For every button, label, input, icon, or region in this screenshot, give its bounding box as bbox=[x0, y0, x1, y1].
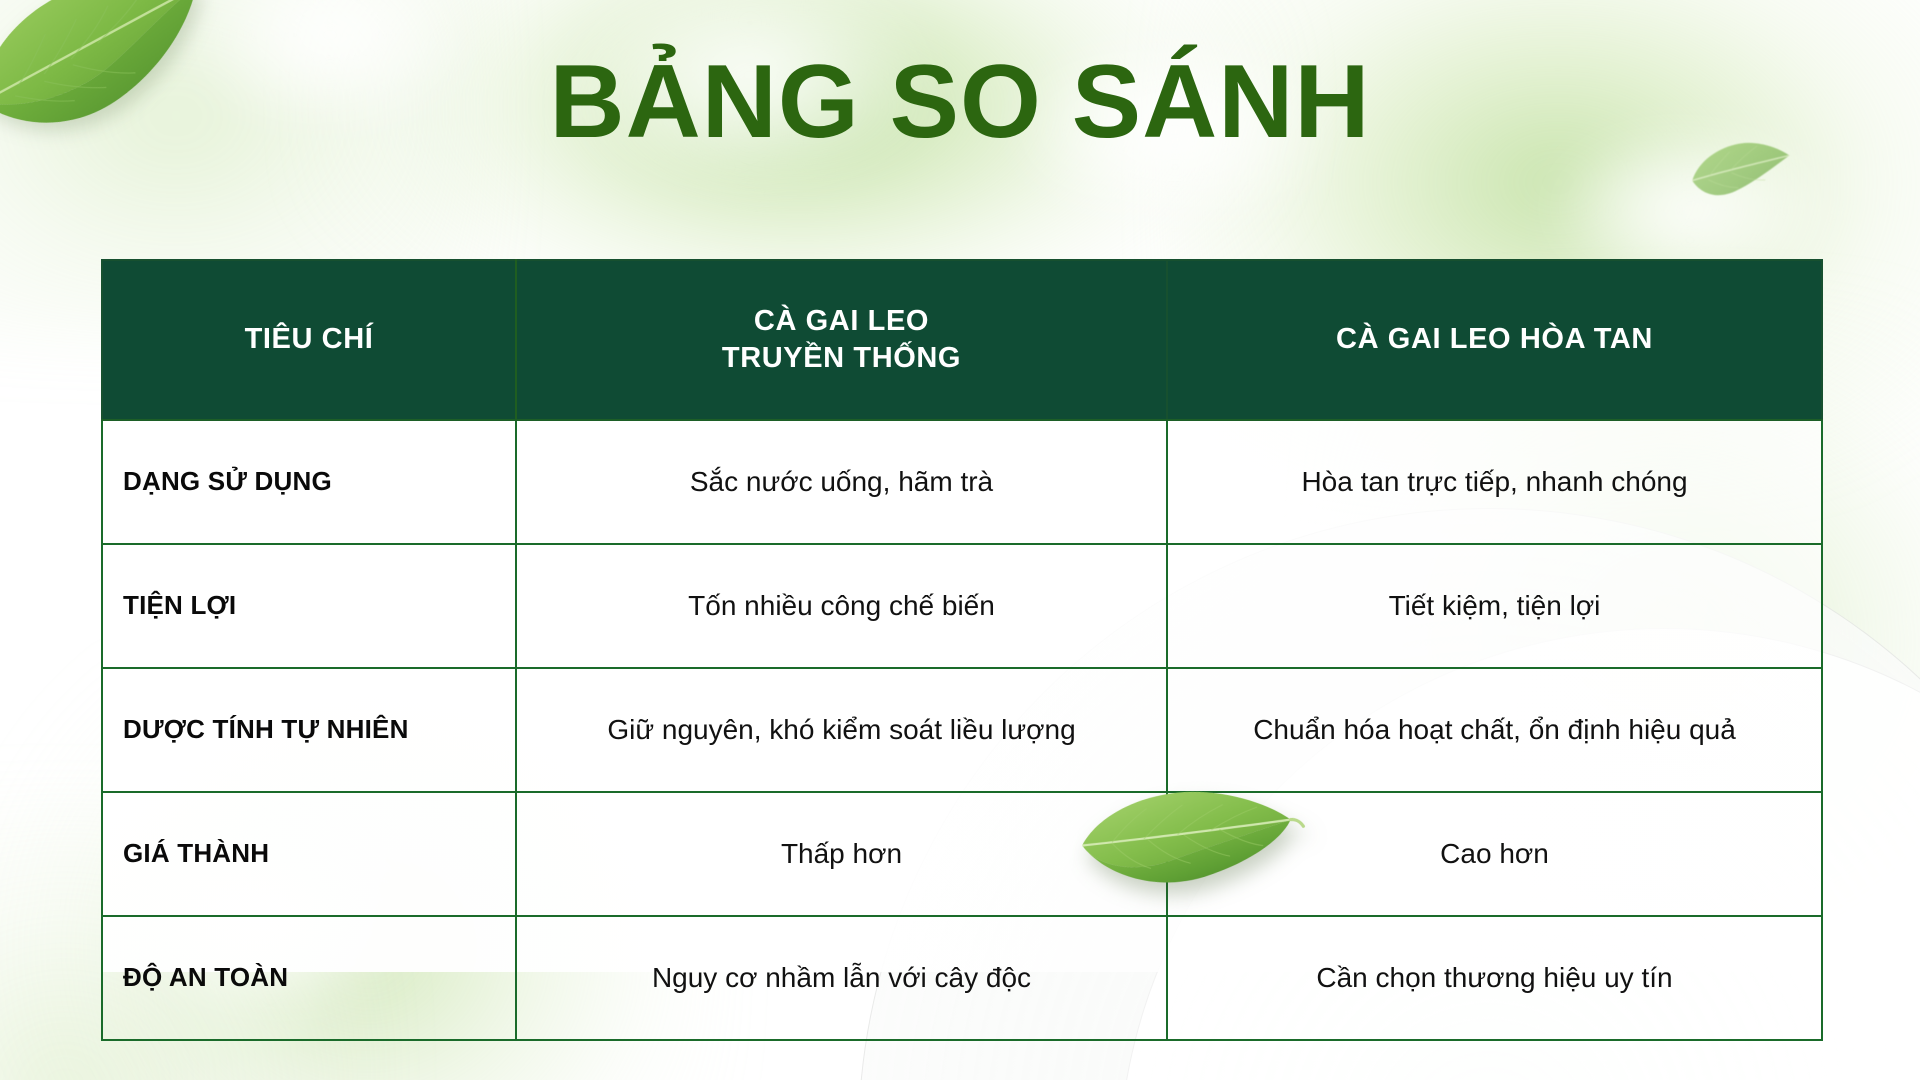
cell-traditional-3: Thấp hơn bbox=[516, 792, 1167, 916]
table-row: DẠNG SỬ DỤNG Sắc nước uống, hãm trà Hòa … bbox=[102, 420, 1822, 544]
page-title: BẢNG SO SÁNH bbox=[0, 46, 1920, 158]
column-header-traditional-line2: TRUYỀN THỐNG bbox=[722, 342, 961, 374]
cell-instant-4: Cần chọn thương hiệu uy tín bbox=[1167, 916, 1822, 1040]
row-label-duoc-tinh-tu-nhien: DƯỢC TÍNH TỰ NHIÊN bbox=[102, 668, 516, 792]
table-header: TIÊU CHÍ CÀ GAI LEO TRUYỀN THỐNG CÀ GAI … bbox=[102, 260, 1822, 420]
column-header-traditional: CÀ GAI LEO TRUYỀN THỐNG bbox=[516, 260, 1167, 420]
column-header-criteria: TIÊU CHÍ bbox=[102, 260, 516, 420]
row-label-do-an-toan: ĐỘ AN TOÀN bbox=[102, 916, 516, 1040]
row-label-dang-su-dung: DẠNG SỬ DỤNG bbox=[102, 420, 516, 544]
cell-instant-3: Cao hơn bbox=[1167, 792, 1822, 916]
row-label-gia-thanh: GIÁ THÀNH bbox=[102, 792, 516, 916]
cell-traditional-1: Tốn nhiều công chế biến bbox=[516, 544, 1167, 668]
cell-instant-2: Chuẩn hóa hoạt chất, ổn định hiệu quả bbox=[1167, 668, 1822, 792]
table-row: DƯỢC TÍNH TỰ NHIÊN Giữ nguyên, khó kiểm … bbox=[102, 668, 1822, 792]
table-header-row: TIÊU CHÍ CÀ GAI LEO TRUYỀN THỐNG CÀ GAI … bbox=[102, 260, 1822, 420]
cell-traditional-2: Giữ nguyên, khó kiểm soát liều lượng bbox=[516, 668, 1167, 792]
comparison-table: TIÊU CHÍ CÀ GAI LEO TRUYỀN THỐNG CÀ GAI … bbox=[101, 259, 1823, 1041]
cell-traditional-0: Sắc nước uống, hãm trà bbox=[516, 420, 1167, 544]
table-body: DẠNG SỬ DỤNG Sắc nước uống, hãm trà Hòa … bbox=[102, 420, 1822, 1040]
column-header-traditional-line1: CÀ GAI LEO bbox=[754, 305, 929, 337]
table-row: ĐỘ AN TOÀN Nguy cơ nhầm lẫn với cây độc … bbox=[102, 916, 1822, 1040]
column-header-instant: CÀ GAI LEO HÒA TAN bbox=[1167, 260, 1822, 420]
cell-instant-0: Hòa tan trực tiếp, nhanh chóng bbox=[1167, 420, 1822, 544]
comparison-table-container: TIÊU CHÍ CÀ GAI LEO TRUYỀN THỐNG CÀ GAI … bbox=[101, 259, 1821, 1041]
table-row: TIỆN LỢI Tốn nhiều công chế biến Tiết ki… bbox=[102, 544, 1822, 668]
table-row: GIÁ THÀNH Thấp hơn Cao hơn bbox=[102, 792, 1822, 916]
row-label-tien-loi: TIỆN LỢI bbox=[102, 544, 516, 668]
slide-canvas: BẢNG SO SÁNH TIÊU CHÍ CÀ GAI LEO TRUYỀN … bbox=[0, 0, 1920, 1080]
cell-instant-1: Tiết kiệm, tiện lợi bbox=[1167, 544, 1822, 668]
cell-traditional-4: Nguy cơ nhầm lẫn với cây độc bbox=[516, 916, 1167, 1040]
